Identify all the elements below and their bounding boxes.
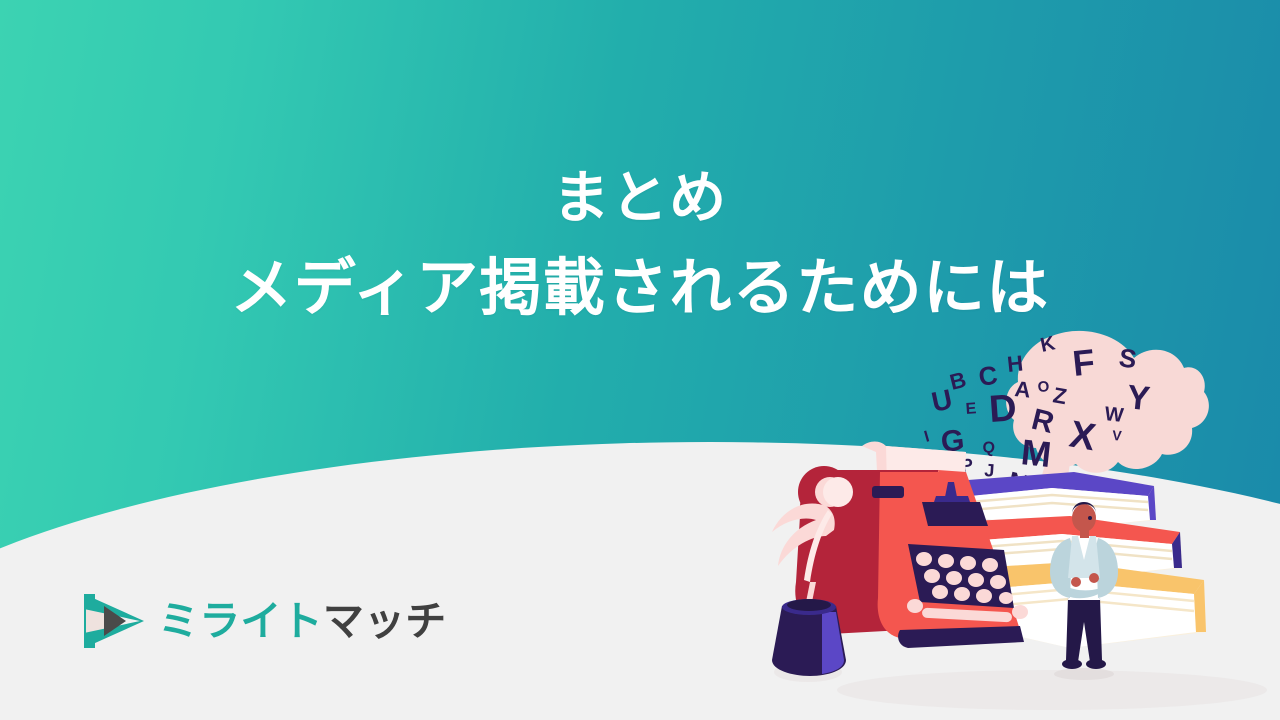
letter-A: A bbox=[1013, 376, 1032, 403]
letter-W: W bbox=[1103, 403, 1124, 427]
letter-E: E bbox=[965, 400, 977, 418]
inkwell bbox=[772, 599, 846, 682]
brand-name-secondary: マッチ bbox=[323, 598, 447, 644]
typewriter-slot bbox=[872, 486, 904, 498]
letter-Y: Y bbox=[1125, 378, 1152, 418]
letter-I: I bbox=[922, 428, 931, 446]
brand-logo: ミライトマッチ bbox=[82, 592, 446, 650]
letter-V: V bbox=[1112, 427, 1123, 444]
letter-H: H bbox=[1006, 350, 1024, 377]
letter-B: B bbox=[947, 367, 968, 395]
play-chevron-mark-icon bbox=[82, 592, 144, 650]
presentation-slide: まとめ メディア掲載されるためには ミライトマッチ bbox=[0, 0, 1280, 720]
brand-name-primary: ミライト bbox=[158, 598, 323, 644]
letter-O: O bbox=[1037, 378, 1050, 396]
headline-line-1: まとめ bbox=[0, 158, 1280, 239]
letter-J: J bbox=[984, 460, 995, 481]
headline-line-2: メディア掲載されるためには bbox=[0, 245, 1280, 333]
typewriter-books-letters-illustration: K H F S C A O Z Y B U E D R X W V bbox=[752, 330, 1280, 720]
ground-shadow bbox=[837, 670, 1267, 710]
letter-C: C bbox=[977, 360, 1000, 392]
page-title: まとめ メディア掲載されるためには bbox=[0, 158, 1280, 333]
letter-D: D bbox=[988, 387, 1018, 431]
letter-F: F bbox=[1071, 341, 1097, 384]
person-head bbox=[1072, 504, 1096, 532]
letter-Q: Q bbox=[982, 439, 996, 457]
brand-logo-text: ミライトマッチ bbox=[158, 601, 446, 642]
